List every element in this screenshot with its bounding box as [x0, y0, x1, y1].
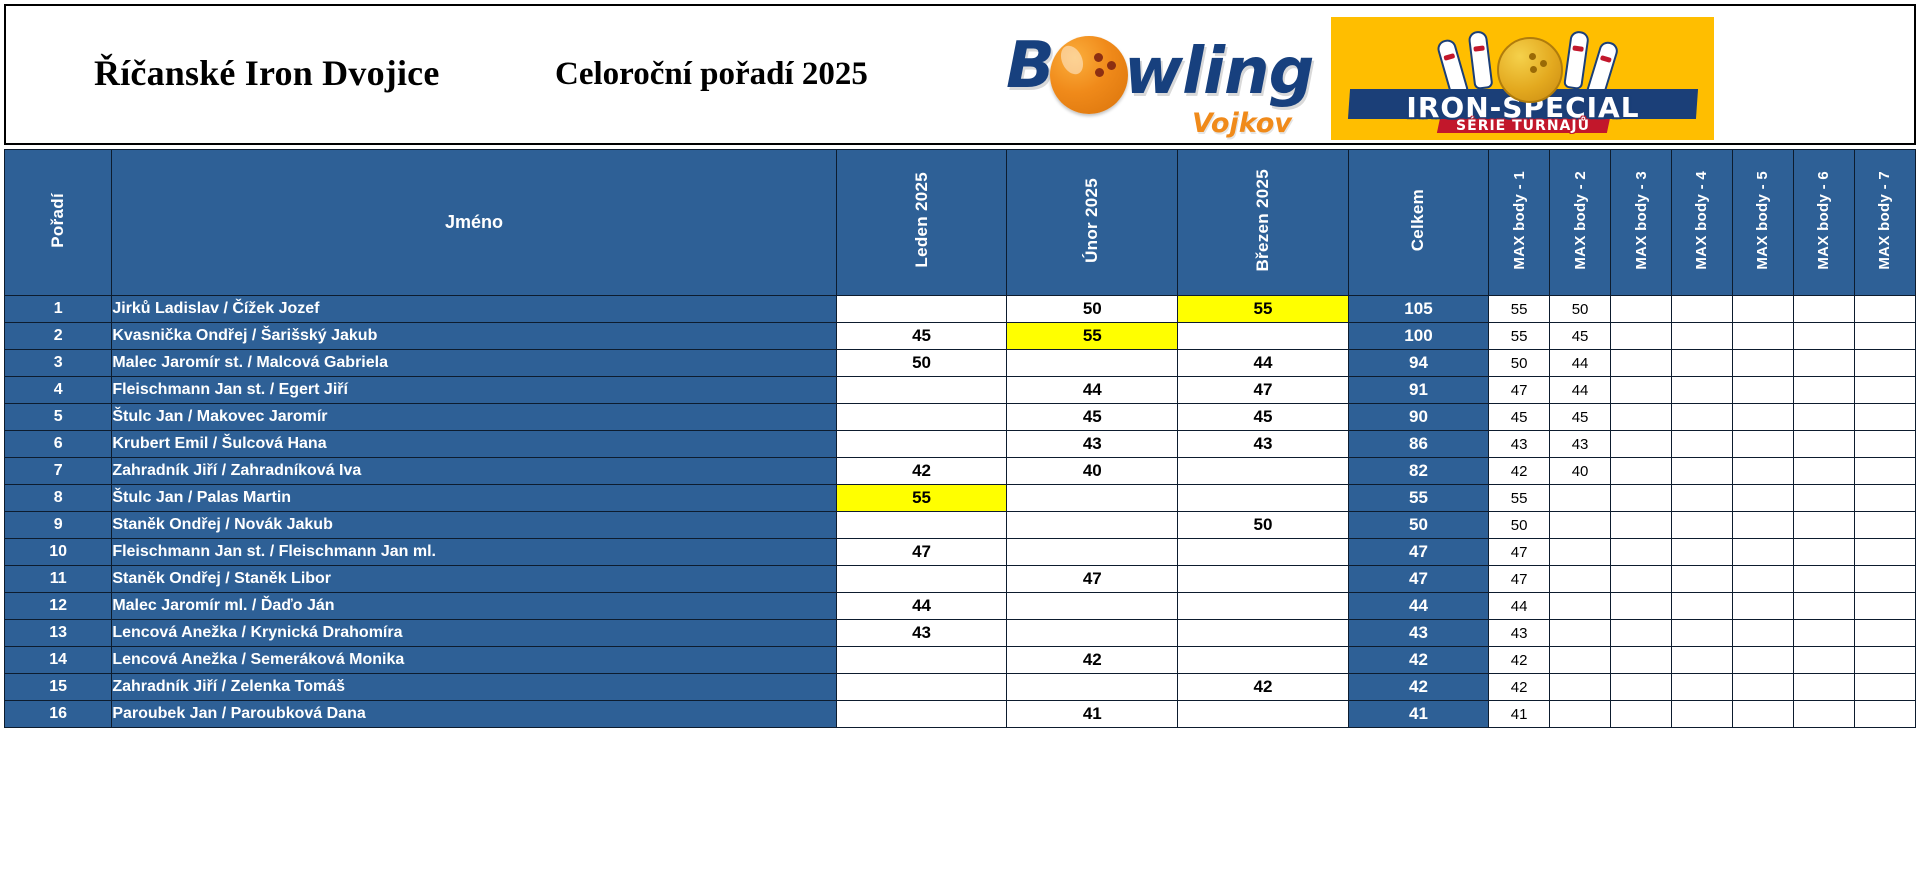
cell-max-body-3[interactable]: [1611, 701, 1672, 728]
col-header-max-body-2[interactable]: MAX body - 2: [1550, 150, 1611, 296]
cell-max-body-6[interactable]: [1793, 323, 1854, 350]
cell-brezen[interactable]: [1178, 458, 1349, 485]
cell-max-body-4[interactable]: [1672, 512, 1733, 539]
table-row[interactable]: 15Zahradník Jiří / Zelenka Tomáš424242: [5, 674, 1916, 701]
page-title: Říčanské Iron Dvojice: [94, 52, 440, 94]
cell-brezen[interactable]: [1178, 593, 1349, 620]
cell-max-body-4[interactable]: [1672, 566, 1733, 593]
cell-max-body-6[interactable]: [1793, 431, 1854, 458]
cell-brezen[interactable]: 47: [1178, 377, 1349, 404]
iron-ball-hole: [1540, 60, 1547, 67]
cell-brezen[interactable]: 55: [1178, 296, 1349, 323]
cell-rank[interactable]: 16: [5, 701, 112, 728]
cell-unor[interactable]: [1007, 674, 1178, 701]
cell-max-body-4[interactable]: [1672, 593, 1733, 620]
cell-celkem[interactable]: 47: [1348, 539, 1488, 566]
cell-brezen[interactable]: 45: [1178, 404, 1349, 431]
cell-celkem[interactable]: 43: [1348, 620, 1488, 647]
bowling-logo-wordmark: wling: [1124, 40, 1313, 104]
cell-max-body-1[interactable]: 47: [1489, 566, 1550, 593]
cell-max-body-2[interactable]: [1550, 512, 1611, 539]
cell-unor[interactable]: 40: [1007, 458, 1178, 485]
title-bar: Říčanské Iron Dvojice Celoroční pořadí 2…: [4, 4, 1916, 145]
cell-max-body-2[interactable]: 44: [1550, 350, 1611, 377]
bowling-ball-gloss: [1057, 42, 1088, 78]
table-row[interactable]: 14Lencová Anežka / Semeráková Monika4242…: [5, 647, 1916, 674]
cell-brezen[interactable]: [1178, 701, 1349, 728]
cell-max-body-5[interactable]: [1732, 566, 1793, 593]
cell-max-body-7[interactable]: [1854, 674, 1915, 701]
cell-max-body-3[interactable]: [1611, 296, 1672, 323]
cell-max-body-6[interactable]: [1793, 620, 1854, 647]
cell-unor[interactable]: 44: [1007, 377, 1178, 404]
page-subtitle: Celoroční pořadí 2025: [555, 56, 868, 93]
cell-name[interactable]: Fleischmann Jan st. / Fleischmann Jan ml…: [112, 539, 836, 566]
col-header-brezen[interactable]: Březen 2025: [1178, 150, 1349, 296]
cell-max-body-2[interactable]: [1550, 485, 1611, 512]
table-row[interactable]: 5Štulc Jan / Makovec Jaromír4545904545: [5, 404, 1916, 431]
table-row[interactable]: 6Krubert Emil / Šulcová Hana4343864343: [5, 431, 1916, 458]
cell-brezen[interactable]: 43: [1178, 431, 1349, 458]
cell-brezen[interactable]: 50: [1178, 512, 1349, 539]
iron-special-logo: IRON-SPECIAL SÉRIE TURNAJŮ: [1331, 17, 1714, 140]
cell-max-body-6[interactable]: [1793, 566, 1854, 593]
table-row[interactable]: 10Fleischmann Jan st. / Fleischmann Jan …: [5, 539, 1916, 566]
bowling-ball-hole: [1107, 61, 1116, 70]
cell-celkem[interactable]: 44: [1348, 593, 1488, 620]
cell-max-body-5[interactable]: [1732, 620, 1793, 647]
cell-max-body-7[interactable]: [1854, 377, 1915, 404]
cell-max-body-3[interactable]: [1611, 566, 1672, 593]
bowling-logo-vojkov: Vojkov: [1192, 108, 1292, 139]
cell-leden[interactable]: [836, 674, 1007, 701]
col-header-poradi[interactable]: Pořadí: [5, 150, 112, 296]
iron-logo-subtitle: SÉRIE TURNAJŮ: [1353, 118, 1693, 134]
cell-max-body-4[interactable]: [1672, 539, 1733, 566]
cell-celkem[interactable]: 41: [1348, 701, 1488, 728]
cell-leden[interactable]: [836, 647, 1007, 674]
cell-max-body-6[interactable]: [1793, 701, 1854, 728]
standings-table: Pořadí Jméno Leden 2025 Únor 2025 Březen…: [4, 149, 1916, 728]
cell-leden[interactable]: [836, 566, 1007, 593]
col-header-unor[interactable]: Únor 2025: [1007, 150, 1178, 296]
cell-max-body-4[interactable]: [1672, 458, 1733, 485]
cell-leden[interactable]: 44: [836, 593, 1007, 620]
cell-leden[interactable]: [836, 404, 1007, 431]
table-body: 1Jirků Ladislav / Čížek Jozef50551055550…: [5, 296, 1916, 728]
cell-rank[interactable]: 5: [5, 404, 112, 431]
cell-max-body-5[interactable]: [1732, 485, 1793, 512]
cell-name[interactable]: Jirků Ladislav / Čížek Jozef: [112, 296, 836, 323]
cell-name[interactable]: Kvasnička Ondřej / Šarišský Jakub: [112, 323, 836, 350]
cell-name[interactable]: Lencová Anežka / Semeráková Monika: [112, 647, 836, 674]
col-header-max-body-3[interactable]: MAX body - 3: [1611, 150, 1672, 296]
header-row: Pořadí Jméno Leden 2025 Únor 2025 Březen…: [5, 150, 1916, 296]
cell-unor[interactable]: [1007, 620, 1178, 647]
cell-max-body-2[interactable]: 50: [1550, 296, 1611, 323]
cell-celkem[interactable]: 94: [1348, 350, 1488, 377]
cell-rank[interactable]: 4: [5, 377, 112, 404]
cell-leden[interactable]: [836, 701, 1007, 728]
cell-max-body-5[interactable]: [1732, 404, 1793, 431]
cell-max-body-7[interactable]: [1854, 404, 1915, 431]
cell-max-body-3[interactable]: [1611, 512, 1672, 539]
cell-max-body-1[interactable]: 50: [1489, 512, 1550, 539]
col-header-celkem[interactable]: Celkem: [1348, 150, 1488, 296]
cell-name[interactable]: Štulc Jan / Palas Martin: [112, 485, 836, 512]
cell-max-body-4[interactable]: [1672, 485, 1733, 512]
cell-max-body-1[interactable]: 50: [1489, 350, 1550, 377]
cell-max-body-7[interactable]: [1854, 593, 1915, 620]
cell-brezen[interactable]: [1178, 539, 1349, 566]
cell-leden[interactable]: [836, 431, 1007, 458]
cell-rank[interactable]: 6: [5, 431, 112, 458]
cell-max-body-1[interactable]: 47: [1489, 539, 1550, 566]
cell-brezen[interactable]: 42: [1178, 674, 1349, 701]
cell-celkem[interactable]: 47: [1348, 566, 1488, 593]
cell-rank[interactable]: 3: [5, 350, 112, 377]
col-header-max-body-5[interactable]: MAX body - 5: [1732, 150, 1793, 296]
cell-max-body-5[interactable]: [1732, 350, 1793, 377]
cell-max-body-7[interactable]: [1854, 431, 1915, 458]
cell-max-body-2[interactable]: [1550, 539, 1611, 566]
cell-rank[interactable]: 15: [5, 674, 112, 701]
cell-max-body-2[interactable]: [1550, 620, 1611, 647]
cell-unor[interactable]: 41: [1007, 701, 1178, 728]
cell-max-body-7[interactable]: [1854, 485, 1915, 512]
cell-leden[interactable]: [836, 296, 1007, 323]
cell-name[interactable]: Lencová Anežka / Krynická Drahomíra: [112, 620, 836, 647]
cell-unor[interactable]: [1007, 350, 1178, 377]
cell-brezen[interactable]: [1178, 566, 1349, 593]
cell-celkem[interactable]: 90: [1348, 404, 1488, 431]
table-header: Pořadí Jméno Leden 2025 Únor 2025 Březen…: [5, 150, 1916, 296]
bowling-logo-letter-b: B: [1006, 34, 1054, 98]
cell-rank[interactable]: 1: [5, 296, 112, 323]
cell-max-body-1[interactable]: 55: [1489, 485, 1550, 512]
cell-max-body-3[interactable]: [1611, 458, 1672, 485]
cell-max-body-2[interactable]: [1550, 701, 1611, 728]
cell-name[interactable]: Fleischmann Jan st. / Egert Jiří: [112, 377, 836, 404]
cell-name[interactable]: Malec Jaromír st. / Malcová Gabriela: [112, 350, 836, 377]
cell-rank[interactable]: 12: [5, 593, 112, 620]
cell-max-body-2[interactable]: 44: [1550, 377, 1611, 404]
cell-max-body-1[interactable]: 47: [1489, 377, 1550, 404]
cell-brezen[interactable]: 44: [1178, 350, 1349, 377]
cell-max-body-5[interactable]: [1732, 647, 1793, 674]
cell-name[interactable]: Štulc Jan / Makovec Jaromír: [112, 404, 836, 431]
cell-max-body-4[interactable]: [1672, 701, 1733, 728]
cell-brezen[interactable]: [1178, 647, 1349, 674]
cell-max-body-5[interactable]: [1732, 539, 1793, 566]
table-row[interactable]: 11Staněk Ondřej / Staněk Libor474747: [5, 566, 1916, 593]
col-header-leden[interactable]: Leden 2025: [836, 150, 1007, 296]
cell-max-body-3[interactable]: [1611, 647, 1672, 674]
table-row[interactable]: 1Jirků Ladislav / Čížek Jozef50551055550: [5, 296, 1916, 323]
cell-celkem[interactable]: 105: [1348, 296, 1488, 323]
cell-leden[interactable]: 45: [836, 323, 1007, 350]
cell-brezen[interactable]: [1178, 620, 1349, 647]
cell-rank[interactable]: 13: [5, 620, 112, 647]
cell-celkem[interactable]: 55: [1348, 485, 1488, 512]
cell-max-body-1[interactable]: 55: [1489, 296, 1550, 323]
cell-max-body-7[interactable]: [1854, 458, 1915, 485]
cell-max-body-6[interactable]: [1793, 377, 1854, 404]
cell-name[interactable]: Zahradník Jiří / Zelenka Tomáš: [112, 674, 836, 701]
cell-max-body-2[interactable]: [1550, 674, 1611, 701]
cell-name[interactable]: Krubert Emil / Šulcová Hana: [112, 431, 836, 458]
cell-name[interactable]: Staněk Ondřej / Staněk Libor: [112, 566, 836, 593]
cell-brezen[interactable]: [1178, 323, 1349, 350]
cell-max-body-2[interactable]: 43: [1550, 431, 1611, 458]
cell-max-body-3[interactable]: [1611, 377, 1672, 404]
cell-name[interactable]: Staněk Ondřej / Novák Jakub: [112, 512, 836, 539]
cell-max-body-3[interactable]: [1611, 431, 1672, 458]
cell-leden[interactable]: [836, 512, 1007, 539]
cell-max-body-1[interactable]: 42: [1489, 647, 1550, 674]
cell-unor[interactable]: [1007, 512, 1178, 539]
cell-max-body-6[interactable]: [1793, 593, 1854, 620]
cell-max-body-4[interactable]: [1672, 647, 1733, 674]
cell-max-body-2[interactable]: [1550, 566, 1611, 593]
cell-unor[interactable]: 45: [1007, 404, 1178, 431]
cell-max-body-2[interactable]: 40: [1550, 458, 1611, 485]
cell-max-body-5[interactable]: [1732, 674, 1793, 701]
cell-max-body-6[interactable]: [1793, 512, 1854, 539]
cell-celkem[interactable]: 91: [1348, 377, 1488, 404]
cell-leden[interactable]: 47: [836, 539, 1007, 566]
table-row[interactable]: 2Kvasnička Ondřej / Šarišský Jakub455510…: [5, 323, 1916, 350]
cell-max-body-7[interactable]: [1854, 647, 1915, 674]
cell-unor[interactable]: 55: [1007, 323, 1178, 350]
table-row[interactable]: 16Paroubek Jan / Paroubková Dana414141: [5, 701, 1916, 728]
cell-max-body-6[interactable]: [1793, 404, 1854, 431]
cell-rank[interactable]: 7: [5, 458, 112, 485]
cell-rank[interactable]: 10: [5, 539, 112, 566]
cell-max-body-4[interactable]: [1672, 323, 1733, 350]
col-header-max-body-1[interactable]: MAX body - 1: [1489, 150, 1550, 296]
cell-max-body-3[interactable]: [1611, 485, 1672, 512]
cell-max-body-4[interactable]: [1672, 620, 1733, 647]
cell-max-body-3[interactable]: [1611, 539, 1672, 566]
cell-max-body-6[interactable]: [1793, 485, 1854, 512]
bowling-pin-icon: [1468, 30, 1494, 90]
bowling-pin-icon: [1563, 30, 1590, 90]
cell-max-body-7[interactable]: [1854, 323, 1915, 350]
cell-unor[interactable]: 43: [1007, 431, 1178, 458]
cell-name[interactable]: Paroubek Jan / Paroubková Dana: [112, 701, 836, 728]
cell-celkem[interactable]: 50: [1348, 512, 1488, 539]
cell-max-body-1[interactable]: 42: [1489, 674, 1550, 701]
col-header-jmeno[interactable]: Jméno: [112, 150, 836, 296]
col-header-max-body-7[interactable]: MAX body - 7: [1854, 150, 1915, 296]
cell-max-body-1[interactable]: 42: [1489, 458, 1550, 485]
cell-celkem[interactable]: 100: [1348, 323, 1488, 350]
cell-max-body-2[interactable]: 45: [1550, 404, 1611, 431]
cell-max-body-7[interactable]: [1854, 620, 1915, 647]
cell-leden[interactable]: 50: [836, 350, 1007, 377]
cell-max-body-7[interactable]: [1854, 296, 1915, 323]
cell-rank[interactable]: 14: [5, 647, 112, 674]
iron-bowling-ball-icon: [1497, 37, 1563, 103]
iron-ball-hole: [1529, 53, 1536, 60]
cell-rank[interactable]: 2: [5, 323, 112, 350]
cell-max-body-1[interactable]: 43: [1489, 431, 1550, 458]
cell-max-body-1[interactable]: 45: [1489, 404, 1550, 431]
cell-max-body-5[interactable]: [1732, 512, 1793, 539]
table-row[interactable]: 12Malec Jaromír ml. / Ďaďo Ján444444: [5, 593, 1916, 620]
bowling-vojkov-logo: B wling Vojkov: [1006, 28, 1326, 138]
spreadsheet-page: Říčanské Iron Dvojice Celoroční pořadí 2…: [0, 0, 1920, 886]
cell-unor[interactable]: [1007, 539, 1178, 566]
cell-max-body-4[interactable]: [1672, 404, 1733, 431]
cell-max-body-3[interactable]: [1611, 593, 1672, 620]
cell-max-body-1[interactable]: 55: [1489, 323, 1550, 350]
cell-max-body-6[interactable]: [1793, 674, 1854, 701]
table-row[interactable]: 7Zahradník Jiří / Zahradníková Iva424082…: [5, 458, 1916, 485]
cell-max-body-3[interactable]: [1611, 350, 1672, 377]
col-header-max-body-6[interactable]: MAX body - 6: [1793, 150, 1854, 296]
cell-max-body-5[interactable]: [1732, 296, 1793, 323]
table-row[interactable]: 4Fleischmann Jan st. / Egert Jiří4447914…: [5, 377, 1916, 404]
cell-max-body-2[interactable]: [1550, 593, 1611, 620]
cell-max-body-7[interactable]: [1854, 566, 1915, 593]
cell-max-body-6[interactable]: [1793, 350, 1854, 377]
cell-unor[interactable]: [1007, 485, 1178, 512]
cell-max-body-7[interactable]: [1854, 350, 1915, 377]
cell-max-body-1[interactable]: 41: [1489, 701, 1550, 728]
cell-max-body-4[interactable]: [1672, 674, 1733, 701]
cell-max-body-6[interactable]: [1793, 458, 1854, 485]
cell-max-body-5[interactable]: [1732, 431, 1793, 458]
cell-max-body-3[interactable]: [1611, 620, 1672, 647]
cell-max-body-3[interactable]: [1611, 323, 1672, 350]
bowling-ball-hole: [1094, 53, 1103, 62]
table-row[interactable]: 3Malec Jaromír st. / Malcová Gabriela504…: [5, 350, 1916, 377]
cell-max-body-1[interactable]: 44: [1489, 593, 1550, 620]
bowling-ball-hole: [1095, 68, 1104, 77]
cell-max-body-3[interactable]: [1611, 674, 1672, 701]
cell-celkem[interactable]: 42: [1348, 647, 1488, 674]
cell-max-body-7[interactable]: [1854, 512, 1915, 539]
cell-rank[interactable]: 11: [5, 566, 112, 593]
table-row[interactable]: 13Lencová Anežka / Krynická Drahomíra434…: [5, 620, 1916, 647]
cell-max-body-4[interactable]: [1672, 431, 1733, 458]
cell-max-body-6[interactable]: [1793, 539, 1854, 566]
cell-max-body-4[interactable]: [1672, 350, 1733, 377]
col-header-max-body-4[interactable]: MAX body - 4: [1672, 150, 1733, 296]
cell-max-body-6[interactable]: [1793, 647, 1854, 674]
cell-leden[interactable]: 43: [836, 620, 1007, 647]
bowling-ball-icon: [1050, 36, 1128, 114]
cell-max-body-1[interactable]: 43: [1489, 620, 1550, 647]
cell-max-body-5[interactable]: [1732, 458, 1793, 485]
cell-unor[interactable]: 47: [1007, 566, 1178, 593]
cell-max-body-5[interactable]: [1732, 593, 1793, 620]
cell-leden[interactable]: 55: [836, 485, 1007, 512]
cell-rank[interactable]: 9: [5, 512, 112, 539]
table-row[interactable]: 9Staněk Ondřej / Novák Jakub505050: [5, 512, 1916, 539]
cell-max-body-3[interactable]: [1611, 404, 1672, 431]
iron-ball-hole: [1530, 66, 1537, 73]
cell-rank[interactable]: 8: [5, 485, 112, 512]
cell-name[interactable]: Malec Jaromír ml. / Ďaďo Ján: [112, 593, 836, 620]
cell-leden[interactable]: 42: [836, 458, 1007, 485]
cell-max-body-2[interactable]: [1550, 647, 1611, 674]
cell-max-body-5[interactable]: [1732, 377, 1793, 404]
cell-max-body-2[interactable]: 45: [1550, 323, 1611, 350]
cell-unor[interactable]: 42: [1007, 647, 1178, 674]
cell-unor[interactable]: 50: [1007, 296, 1178, 323]
cell-leden[interactable]: [836, 377, 1007, 404]
cell-max-body-4[interactable]: [1672, 296, 1733, 323]
cell-brezen[interactable]: [1178, 485, 1349, 512]
cell-celkem[interactable]: 42: [1348, 674, 1488, 701]
cell-name[interactable]: Zahradník Jiří / Zahradníková Iva: [112, 458, 836, 485]
table-row[interactable]: 8Štulc Jan / Palas Martin555555: [5, 485, 1916, 512]
cell-celkem[interactable]: 86: [1348, 431, 1488, 458]
cell-max-body-7[interactable]: [1854, 539, 1915, 566]
cell-max-body-5[interactable]: [1732, 323, 1793, 350]
cell-celkem[interactable]: 82: [1348, 458, 1488, 485]
cell-unor[interactable]: [1007, 593, 1178, 620]
cell-max-body-6[interactable]: [1793, 296, 1854, 323]
cell-max-body-7[interactable]: [1854, 701, 1915, 728]
cell-max-body-5[interactable]: [1732, 701, 1793, 728]
cell-max-body-4[interactable]: [1672, 377, 1733, 404]
